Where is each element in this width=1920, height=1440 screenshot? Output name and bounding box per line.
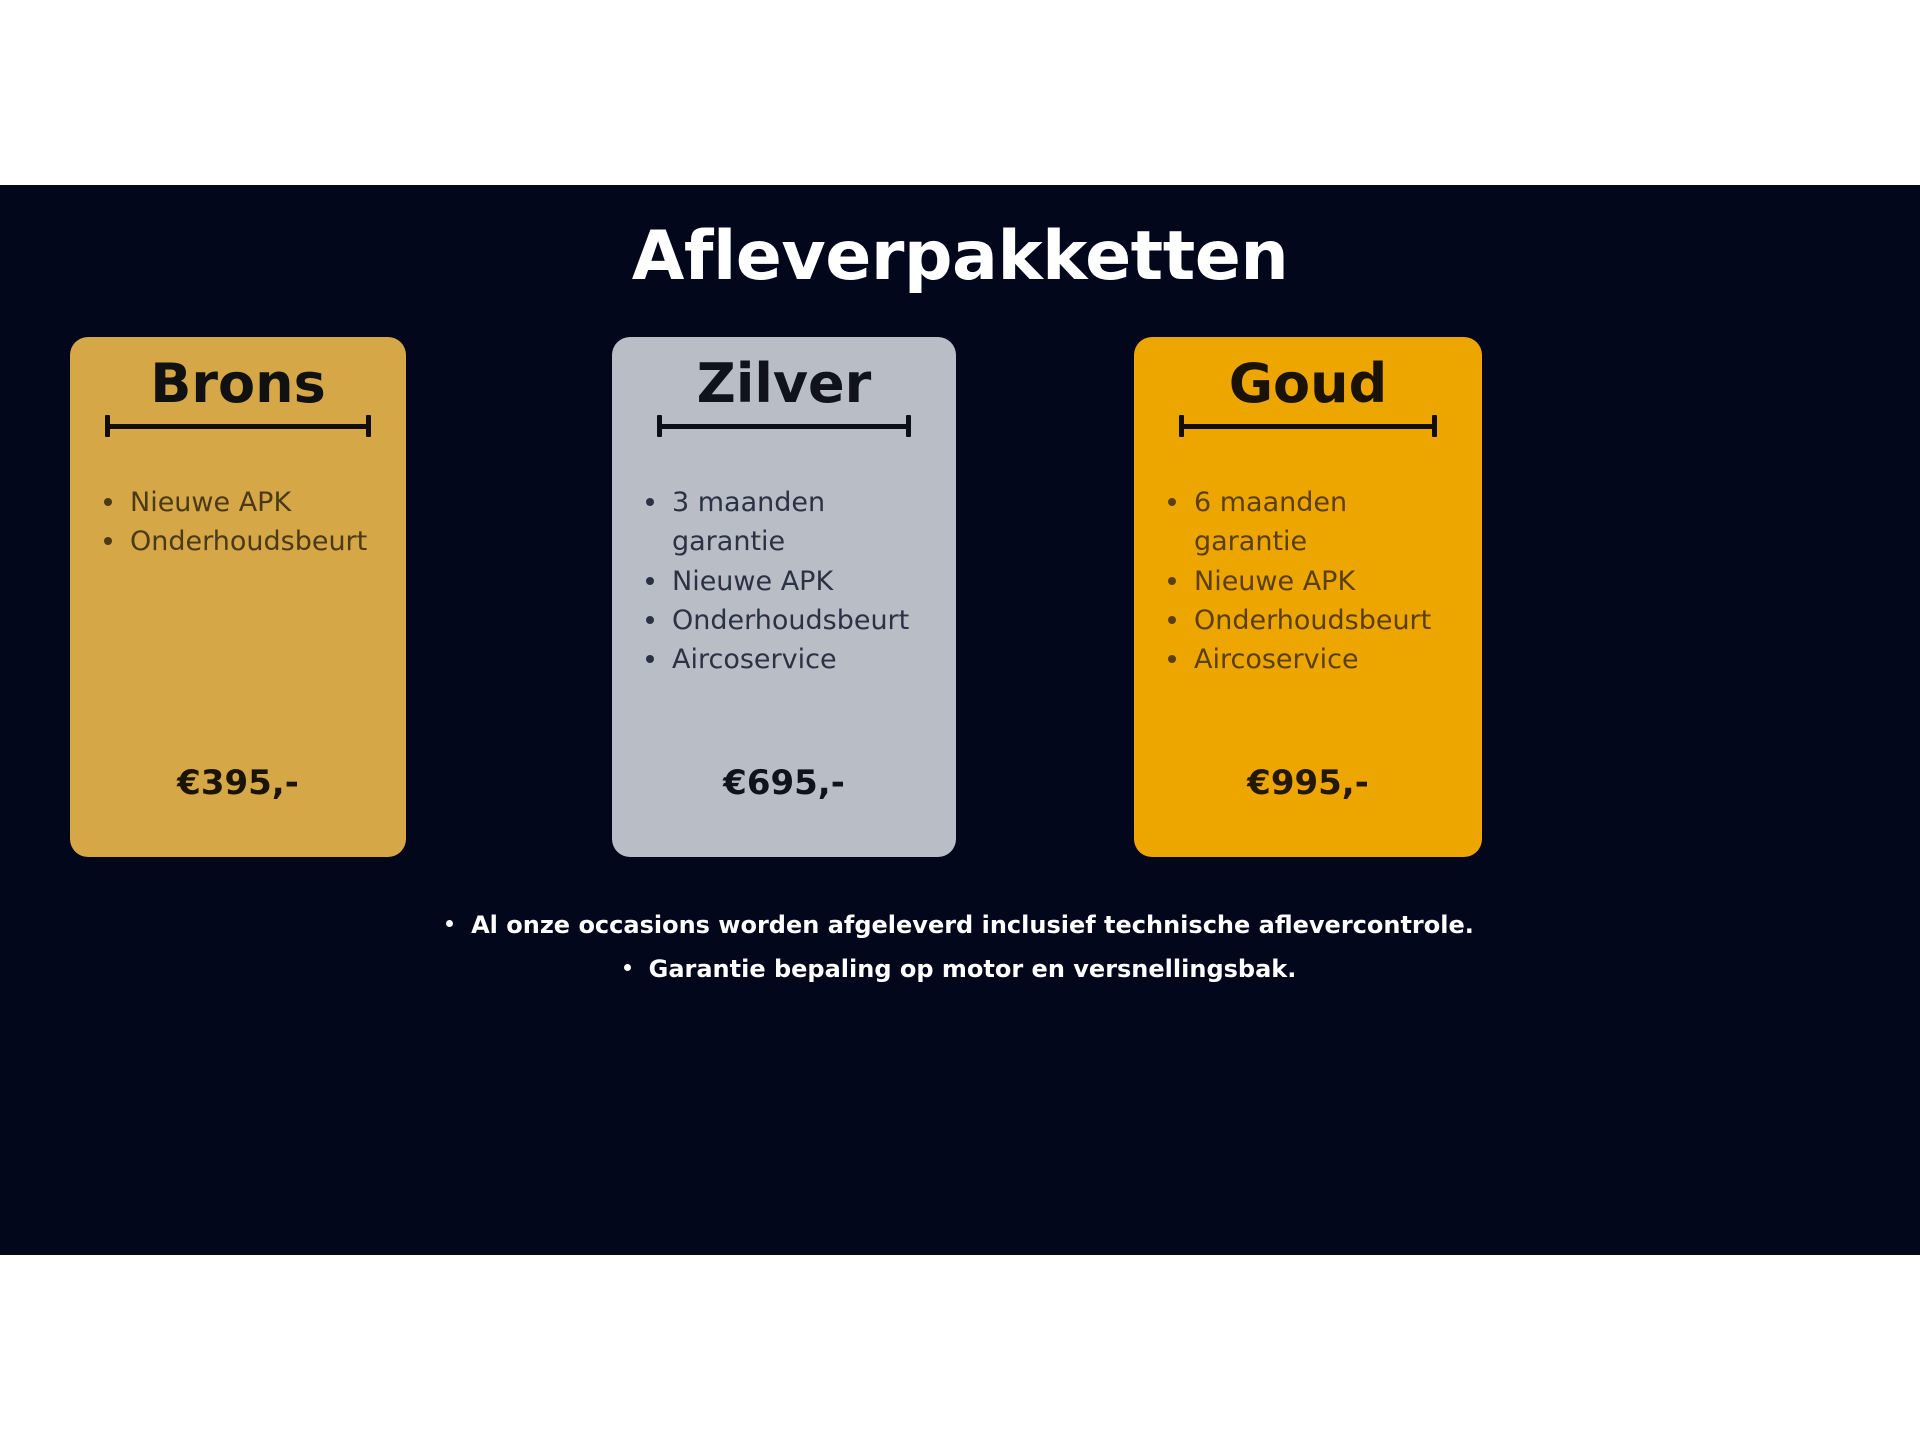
card-title-brons: Brons [84,355,392,413]
price-zilver: €695,- [612,763,956,857]
dimension-rule-icon-brons [105,415,371,437]
pricing-card-zilver[interactable]: Zilver 3 maanden garantie Nieuwe APK Ond… [612,337,956,857]
page-title: Afleverpakketten [0,217,1920,296]
card-header-brons: Brons [70,355,406,437]
list-item: Aircoservice [1160,640,1464,679]
letterbox-bottom [0,1255,1920,1440]
feature-list-zilver: 3 maanden garantie Nieuwe APK Onderhouds… [612,483,956,763]
list-item: 3 maanden garantie [638,483,938,561]
list-item: Onderhoudsbeurt [96,522,388,561]
footer-note-item: Al onze occasions worden afgeleverd incl… [0,903,1920,947]
footer-notes: Al onze occasions worden afgeleverd incl… [0,903,1920,992]
pricing-card-goud[interactable]: Goud 6 maanden garantie Nieuwe APK Onder… [1134,337,1482,857]
feature-list-goud: 6 maanden garantie Nieuwe APK Onderhouds… [1134,483,1482,763]
price-brons: €395,- [70,763,406,857]
footer-note-item: Garantie bepaling op motor en versnellin… [0,947,1920,991]
dimension-rule-icon-zilver [657,415,911,437]
list-item: Onderhoudsbeurt [1160,601,1464,640]
card-header-goud: Goud [1134,355,1482,437]
dimension-cap-right-icon [366,415,371,437]
dimension-cap-right-icon [906,415,911,437]
letterbox-top [0,0,1920,185]
dimension-bar-icon [657,424,911,429]
bullet-dot-icon [624,964,631,971]
card-title-zilver: Zilver [626,355,942,413]
footer-note-text: Garantie bepaling op motor en versnellin… [649,955,1297,983]
bullet-dot-icon [446,920,453,927]
price-goud: €995,- [1134,763,1482,857]
list-item: Nieuwe APK [1160,562,1464,601]
list-item: Aircoservice [638,640,938,679]
list-item: Onderhoudsbeurt [638,601,938,640]
pricing-cards-row: Brons Nieuwe APK Onderhoudsbeurt €395,- … [0,337,1920,857]
footer-note-text: Al onze occasions worden afgeleverd incl… [471,911,1474,939]
dimension-rule-icon-goud [1179,415,1437,437]
card-title-goud: Goud [1148,355,1468,413]
list-item: 6 maanden garantie [1160,483,1464,561]
list-item: Nieuwe APK [96,483,388,522]
slide-root: Afleverpakketten Brons Nieuwe APK Onderh… [0,0,1920,1440]
dimension-cap-right-icon [1432,415,1437,437]
list-item: Nieuwe APK [638,562,938,601]
pricing-card-brons[interactable]: Brons Nieuwe APK Onderhoudsbeurt €395,- [70,337,406,857]
slide-stage: Afleverpakketten Brons Nieuwe APK Onderh… [0,185,1920,1255]
dimension-bar-icon [1179,424,1437,429]
card-header-zilver: Zilver [612,355,956,437]
dimension-bar-icon [105,424,371,429]
feature-list-brons: Nieuwe APK Onderhoudsbeurt [70,483,406,763]
